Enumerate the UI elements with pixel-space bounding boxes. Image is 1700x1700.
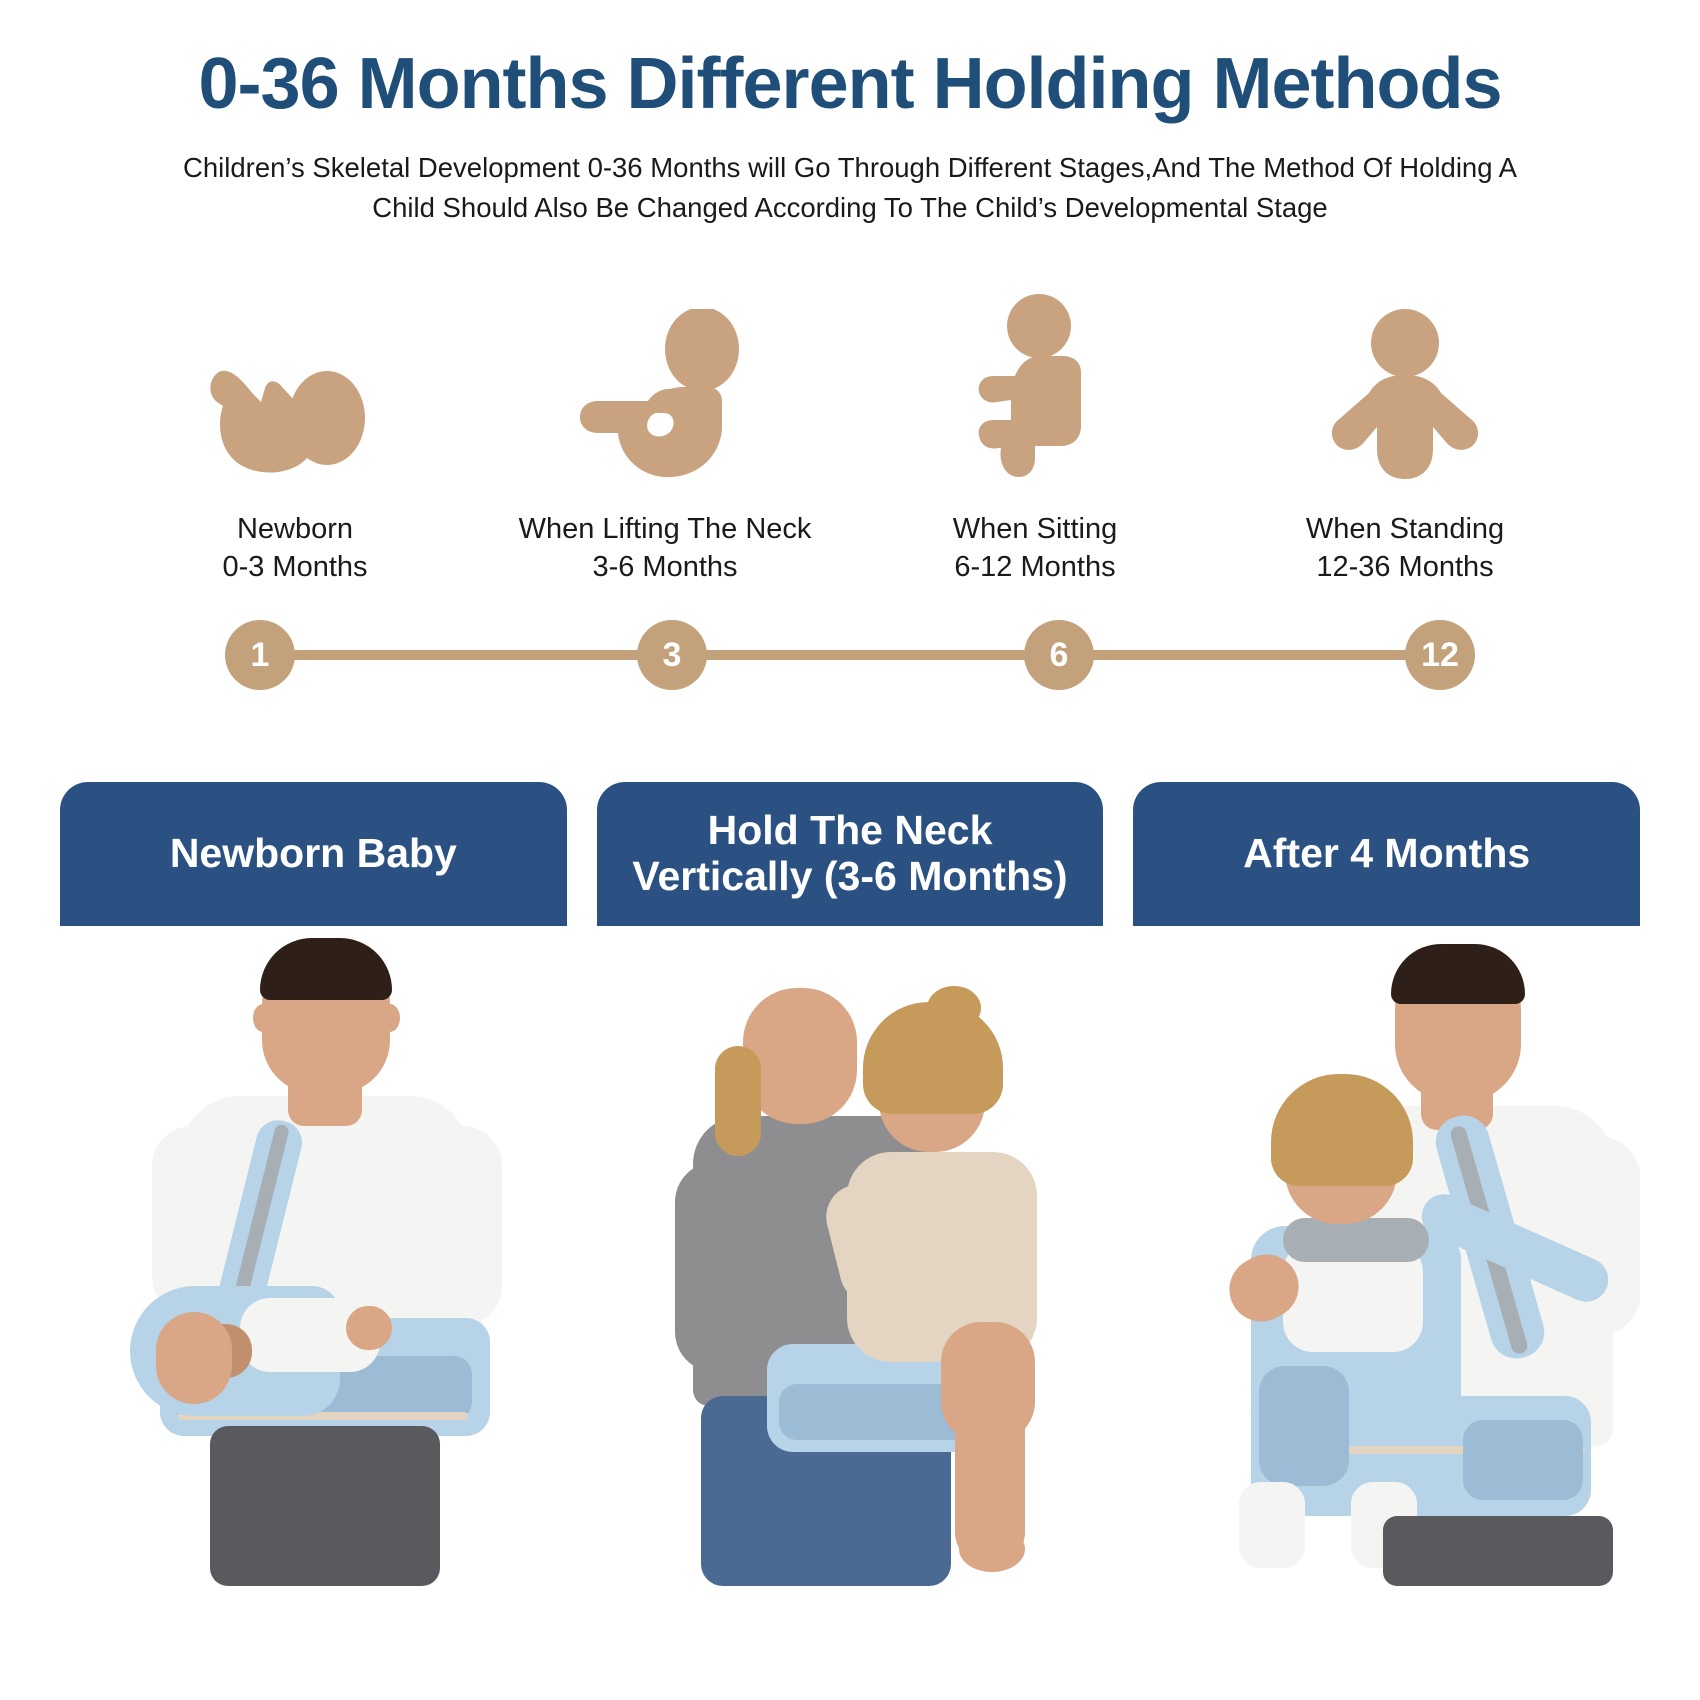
card-title-line-1: Hold The Neck (708, 807, 993, 853)
subtitle-line-2: Child Should Also Be Changed According T… (100, 188, 1600, 228)
stage-label-text: When Lifting The Neck (519, 513, 812, 545)
stage-months-text: 6-12 Months (953, 548, 1117, 586)
stage-label-text: When Standing (1306, 513, 1504, 545)
stage-label: When Standing 12-36 Months (1306, 510, 1504, 587)
card-header: Hold The Neck Vertically (3-6 Months) (597, 782, 1104, 926)
development-stages-row: Newborn 0-3 Months When Lifting The Neck… (90, 284, 1610, 587)
timeline-node-1[interactable]: 1 (225, 620, 295, 690)
timeline-node-12[interactable]: 12 (1405, 620, 1475, 690)
stage-lifting-neck: When Lifting The Neck 3-6 Months (480, 284, 850, 587)
stage-label-text: Newborn (237, 513, 353, 545)
timeline-node-6[interactable]: 6 (1024, 620, 1094, 690)
card-hold-the-neck: Hold The Neck Vertically (3-6 Months) (597, 782, 1104, 1586)
stage-months-text: 12-36 Months (1306, 548, 1504, 586)
stage-label: Newborn 0-3 Months (222, 510, 367, 587)
card-after-4-months: After 4 Months (1133, 782, 1640, 1586)
card-title-line-1: After 4 Months (1243, 830, 1530, 876)
card-title: Hold The Neck Vertically (3-6 Months) (632, 808, 1067, 900)
photo-illustration (60, 926, 567, 1586)
card-title: After 4 Months (1243, 831, 1530, 877)
subtitle-line-1: Children’s Skeletal Development 0-36 Mon… (183, 152, 1517, 183)
stage-months-text: 3-6 Months (519, 548, 812, 586)
stage-newborn: Newborn 0-3 Months (110, 284, 480, 587)
card-title: Newborn Baby (170, 831, 457, 877)
card-photo-after-4-months (1133, 926, 1640, 1586)
stage-standing: When Standing 12-36 Months (1220, 284, 1590, 587)
card-header: After 4 Months (1133, 782, 1640, 926)
card-photo-newborn (60, 926, 567, 1586)
baby-sitting-icon (975, 284, 1095, 484)
page-subtitle: Children’s Skeletal Development 0-36 Mon… (100, 148, 1600, 228)
baby-standing-icon (1325, 284, 1485, 484)
baby-lifting-neck-icon (580, 284, 750, 484)
page-title: 0-36 Months Different Holding Methods (0, 48, 1700, 120)
photo-illustration (597, 926, 1104, 1586)
timeline-node-3[interactable]: 3 (637, 620, 707, 690)
header: 0-36 Months Different Holding Methods Ch… (0, 0, 1700, 228)
age-timeline: 1 3 6 12 (200, 620, 1500, 690)
card-header: Newborn Baby (60, 782, 567, 926)
card-title-line-2: Vertically (3-6 Months) (632, 854, 1067, 900)
baby-lying-icon (205, 284, 385, 484)
stage-label: When Lifting The Neck 3-6 Months (519, 510, 812, 587)
card-newborn-baby: Newborn Baby (60, 782, 567, 1586)
card-photo-hold-neck (597, 926, 1104, 1586)
stage-sitting: When Sitting 6-12 Months (850, 284, 1220, 587)
stage-label: When Sitting 6-12 Months (953, 510, 1117, 587)
holding-method-cards: Newborn Baby (60, 782, 1640, 1586)
stage-months-text: 0-3 Months (222, 548, 367, 586)
timeline-bar (260, 650, 1440, 660)
infographic-page: 0-36 Months Different Holding Methods Ch… (0, 0, 1700, 1700)
stage-label-text: When Sitting (953, 513, 1117, 545)
photo-illustration (1133, 926, 1640, 1586)
card-title-line-1: Newborn Baby (170, 830, 457, 876)
